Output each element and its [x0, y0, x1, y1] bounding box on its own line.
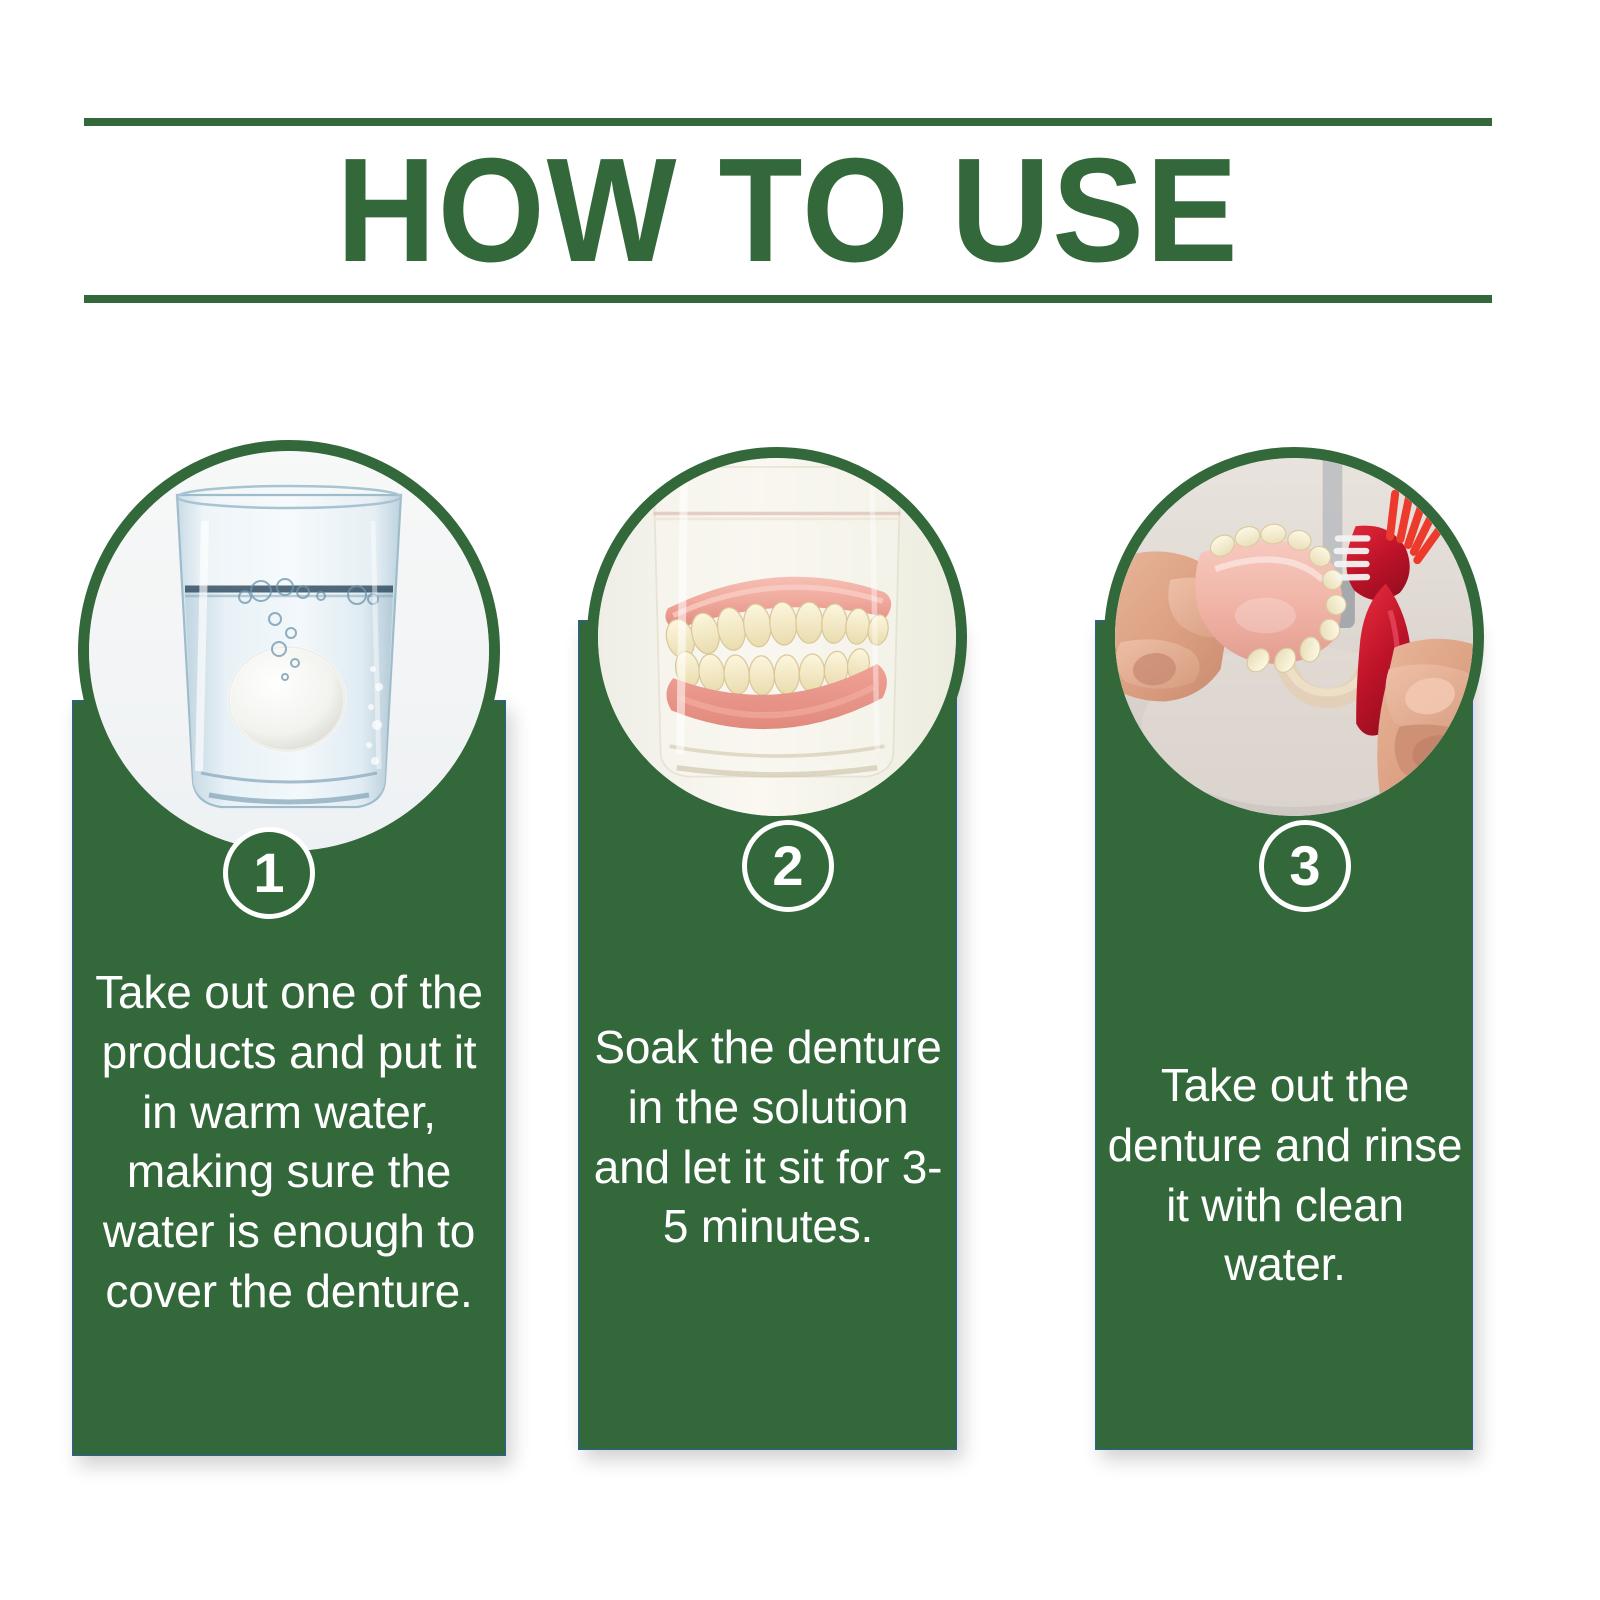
step-description-3: Take out the denture and rinse it with c…: [1103, 1056, 1467, 1295]
glass-of-water-with-effervescent-tablet-photo: [89, 451, 489, 851]
step-number-badge-1: 1: [223, 827, 315, 919]
hands-brushing-denture-with-red-toothbrush-photo: [1115, 458, 1473, 816]
step-number-badge-2: 2: [742, 820, 834, 912]
denture-soaking-in-glass-photo: [598, 458, 956, 816]
step-image-2: [587, 447, 967, 827]
step-description-1: Take out one of the products and put it …: [82, 963, 496, 1322]
step-image-3: [1104, 447, 1484, 827]
step-number-badge-3: 3: [1259, 820, 1351, 912]
header-bottom-rule: [84, 295, 1492, 303]
step-description-2: Soak the denture in the solution and let…: [586, 1018, 950, 1257]
header: HOW TO USE: [84, 118, 1492, 303]
page-title: HOW TO USE: [133, 118, 1442, 303]
infographic-page: HOW TO USE: [0, 0, 1600, 1600]
step-image-1: [78, 440, 500, 862]
